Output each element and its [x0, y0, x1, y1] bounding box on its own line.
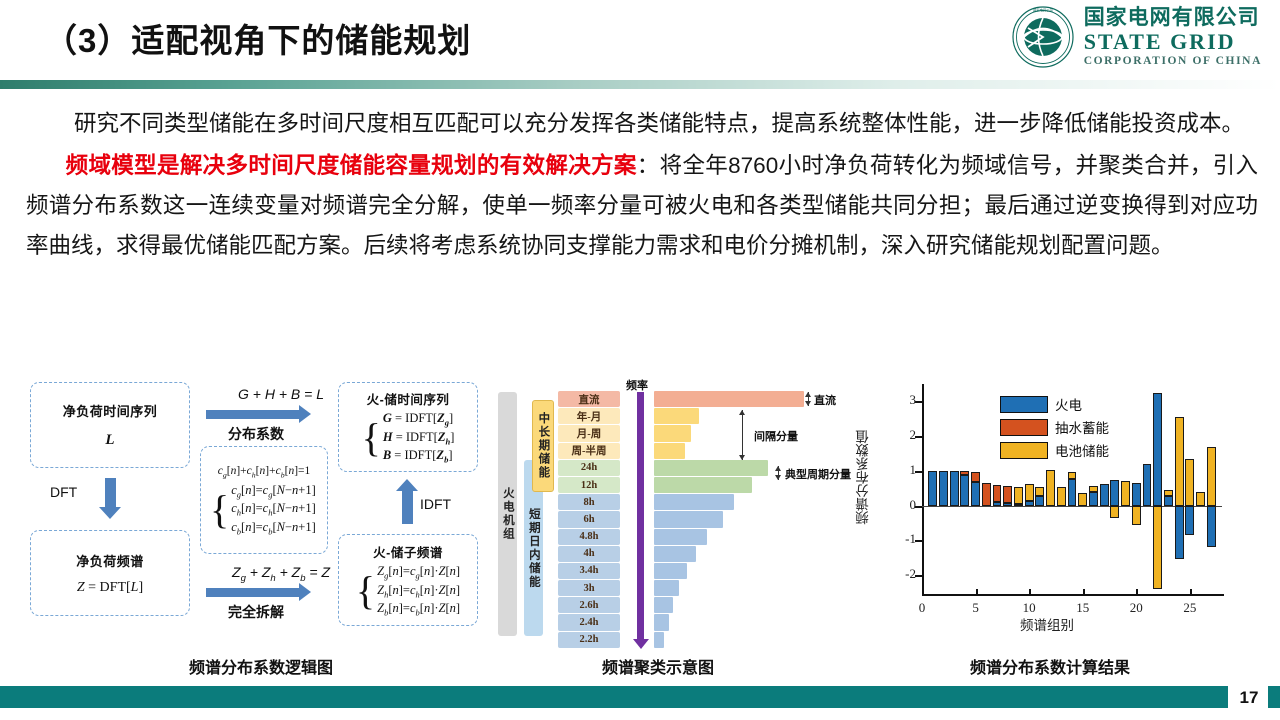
bar-segment — [971, 472, 980, 482]
legend-swatch-battery — [1000, 442, 1048, 459]
bar-segment — [1025, 484, 1034, 501]
y-tick-label: -2 — [896, 566, 916, 582]
spectrum-bar — [654, 425, 691, 441]
bar-segment — [1025, 501, 1034, 505]
band-label: 4.8h — [558, 529, 620, 545]
state-grid-logo: 国家电网公司 国家电网有限公司 STATE GRID CORPORATION O… — [1012, 6, 1262, 68]
bar-segment — [928, 471, 937, 506]
bar-segment — [1185, 506, 1194, 536]
spectrum-bar — [654, 460, 768, 476]
y-axis — [922, 384, 924, 596]
box-thermal-storage-time-series-title: 火-储时间序列 — [367, 389, 450, 408]
arrow-top — [206, 410, 300, 419]
y-tick-label: 0 — [896, 497, 916, 513]
box-net-load-time-series-title: 净负荷时间序列 — [63, 401, 158, 420]
state-grid-logo-text: 国家电网有限公司 STATE GRID CORPORATION OF CHINA — [1084, 7, 1262, 68]
bar-segment — [1207, 506, 1216, 548]
arrow-top-label: 分布系数 — [228, 424, 284, 444]
x-tick — [922, 589, 924, 596]
label-dft: DFT — [50, 484, 77, 500]
band-label: 6h — [558, 511, 620, 527]
box-net-load-time-series-formula: L — [105, 432, 114, 449]
paragraph-1-text: 研究不同类型储能在多时间尺度相互匹配可以充分发挥各类储能特点，提高系统整体性能，… — [26, 104, 1258, 144]
band-label: 3h — [558, 580, 620, 596]
bar-segment — [1110, 480, 1119, 506]
bar-segment — [1089, 492, 1098, 505]
bar-segment — [1175, 506, 1184, 560]
bar-segment — [1132, 506, 1141, 525]
y-tick — [915, 506, 922, 508]
bar-segment — [1164, 496, 1173, 506]
figures-row: 净负荷时间序列 L DFT 净负荷频谱 Z = DFT[L] G + H + B… — [0, 378, 1280, 668]
bar-chart-plot-area: -2-10123 0510152025 火电 抽水蓄能 电池储能 — [922, 384, 1222, 596]
spectrum-bar — [654, 511, 723, 527]
header-divider — [0, 80, 1280, 89]
bar-segment — [1035, 487, 1044, 496]
label-idft: IDFT — [420, 496, 451, 512]
paragraph-1: 研究不同类型储能在多时间尺度相互匹配可以充分发挥各类储能特点，提高系统整体性能，… — [26, 104, 1258, 144]
band-label: 直流 — [558, 391, 620, 407]
box-distribution-coefficients: cg[n]+ch[n]+cb[n]=1 { cg[n]=cg[N−n+1] ch… — [200, 446, 328, 554]
legend-item-pumped-hydro: 抽水蓄能 — [1000, 417, 1109, 437]
spectrum-bar — [654, 477, 752, 493]
spectrum-bar — [654, 580, 679, 596]
x-tick — [1029, 589, 1031, 596]
logo-english-subtitle: CORPORATION OF CHINA — [1084, 56, 1262, 68]
y-tick — [915, 540, 922, 542]
y-tick — [915, 436, 922, 438]
y-axis-label: 频谱分布系数值 — [854, 430, 874, 525]
spectrum-bar — [654, 529, 707, 545]
column-long-term-label: 中长期储能 — [537, 412, 550, 480]
x-axis — [922, 594, 1224, 596]
frequency-axis-label: 频率 — [626, 377, 648, 393]
band-label: 8h — [558, 494, 620, 510]
bar-segment — [1057, 487, 1066, 506]
x-tick — [1083, 589, 1085, 596]
legend-swatch-pumped-hydro — [1000, 419, 1048, 436]
box-thermal-storage-time-series: 火-储时间序列 { G = IDFT[Zg] H = IDFT[Zh] B = … — [338, 382, 478, 472]
y-tick-label: -1 — [896, 531, 916, 547]
bar-segment — [1014, 504, 1023, 506]
figure-spectrum-coefficient-logic: 净负荷时间序列 L DFT 净负荷频谱 Z = DFT[L] G + H + B… — [24, 378, 484, 656]
spectrum-bar — [654, 563, 687, 579]
logo-english-name: STATE GRID — [1084, 31, 1262, 53]
svg-text:国家电网公司: 国家电网公司 — [1033, 7, 1053, 12]
spectrum-bar — [654, 408, 699, 424]
coefficient-sum-equation: cg[n]+ch[n]+cb[n]=1 — [218, 465, 311, 479]
figure-1-caption: 频谱分布系数逻辑图 — [189, 654, 333, 678]
legend-item-battery: 电池储能 — [1000, 440, 1109, 460]
y-tick — [915, 401, 922, 403]
bar-segment — [950, 471, 959, 506]
column-thermal-units: 火电机组 — [498, 392, 517, 636]
dc-dimension-icon — [808, 392, 809, 406]
cycle-dimension-icon — [778, 466, 779, 480]
x-tick-label: 0 — [910, 600, 934, 616]
x-tick — [1190, 589, 1192, 596]
box-thermal-storage-sub-spectrum: 火-储子频谱 { Zg[n]=cg[n]·Z[n] Zh[n]=ch[n]·Z[… — [338, 534, 478, 626]
chart-legend: 火电 抽水蓄能 电池储能 — [1000, 394, 1109, 463]
frequency-band-labels: 直流 年-月 月-周 周-半周 24h 12h 8h 6h 4.8h 4h 3.… — [558, 391, 620, 649]
bar-segment — [1175, 417, 1184, 506]
interval-dimension-icon — [742, 410, 743, 460]
box-net-load-spectrum: 净负荷频谱 Z = DFT[L] — [30, 530, 190, 616]
thermal-storage-time-equations: { G = IDFT[Zg] H = IDFT[Zh] B = IDFT[Zb] — [362, 411, 455, 465]
footer-bar — [0, 686, 1228, 708]
bar-segment — [1196, 492, 1205, 506]
legend-label-pumped-hydro: 抽水蓄能 — [1055, 417, 1109, 437]
bar-segment — [1121, 481, 1130, 505]
bar-segment — [1089, 486, 1098, 492]
band-label: 月-周 — [558, 425, 620, 441]
x-axis-label: 频谱组别 — [1020, 614, 1074, 634]
figure-3-caption: 频谱分布系数计算结果 — [970, 654, 1130, 678]
coefficient-symmetry-equations: { cg[n]=cg[N−n+1] ch[n]=ch[N−n+1] cb[n]=… — [210, 483, 316, 537]
paragraph-2-highlight: 频域模型是解决多时间尺度储能容量规划的有效解决方案 — [66, 153, 637, 178]
legend-swatch-thermal — [1000, 396, 1048, 413]
arrow-dft — [105, 478, 116, 508]
band-label: 2.4h — [558, 614, 620, 630]
bar-segment — [993, 485, 1002, 502]
x-tick-label: 25 — [1178, 600, 1202, 616]
frequency-axis-arrow-icon — [637, 392, 644, 640]
spectrum-bar — [654, 546, 696, 562]
y-tick-label: 1 — [896, 462, 916, 478]
body-text: 研究不同类型储能在多时间尺度相互匹配可以充分发挥各类储能特点，提高系统整体性能，… — [26, 104, 1258, 268]
box-net-load-time-series: 净负荷时间序列 L — [30, 382, 190, 468]
spectrum-bar — [654, 494, 734, 510]
spectrum-bar — [654, 443, 685, 459]
bar-segment — [1014, 487, 1023, 503]
column-short-term-storage-label: 短期日内储能 — [527, 508, 540, 589]
spectrum-bar — [654, 597, 673, 613]
bar-segment — [1110, 506, 1119, 518]
figure-2-caption: 频谱聚类示意图 — [602, 654, 714, 678]
box-thermal-storage-sub-spectrum-title: 火-储子频谱 — [373, 542, 443, 561]
y-tick-label: 3 — [896, 392, 916, 408]
spectrum-bar — [654, 614, 669, 630]
bar-segment — [1068, 479, 1077, 506]
bar-segment — [1153, 393, 1162, 506]
paragraph-2: 频域模型是解决多时间尺度储能容量规划的有效解决方案：将全年8760小时净负荷转化… — [26, 146, 1258, 266]
bar-segment — [1035, 496, 1044, 506]
arrow-top-formula: G + H + B = L — [238, 386, 324, 402]
spectrum-bar — [654, 632, 664, 648]
page-number: 17 — [1232, 688, 1266, 708]
bar-segment — [971, 482, 980, 506]
box-net-load-spectrum-title: 净负荷频谱 — [76, 551, 144, 570]
bar-segment — [939, 471, 948, 506]
bar-segment — [1003, 503, 1012, 506]
x-tick — [1136, 589, 1138, 596]
bar-segment — [1100, 484, 1109, 506]
bar-segment — [1068, 472, 1077, 479]
x-tick-label: 15 — [1071, 600, 1095, 616]
y-tick-label: 2 — [896, 427, 916, 443]
bar-segment — [1143, 464, 1152, 506]
sub-spectrum-equations: { Zg[n]=cg[n]·Z[n] Zh[n]=ch[n]·Z[n] Zb[n… — [356, 564, 460, 618]
figure-spectrum-clustering: 火电机组 短期日内储能 中长期储能 直流 年-月 月-周 周-半周 24h 12… — [492, 378, 864, 656]
band-label: 12h — [558, 477, 620, 493]
band-label: 4h — [558, 546, 620, 562]
legend-label-thermal: 火电 — [1055, 394, 1082, 414]
box-net-load-spectrum-formula: Z = DFT[L] — [77, 580, 143, 596]
band-label: 周-半周 — [558, 443, 620, 459]
brace-left-icon: { — [210, 494, 229, 525]
bar-segment — [1185, 459, 1194, 506]
legend-label-battery: 电池储能 — [1055, 440, 1109, 460]
bar-segment — [1046, 470, 1055, 505]
bar-segment — [1132, 483, 1141, 506]
bar-segment — [1153, 506, 1162, 589]
annotation-typical-cycle-component: 典型周期分量 — [785, 466, 851, 482]
x-tick-label: 5 — [964, 600, 988, 616]
arrow-bottom-formula: Zg + Zh + Zb = Z — [232, 564, 330, 584]
footer-bar-tail — [1268, 686, 1280, 708]
column-thermal-units-label: 火电机组 — [501, 487, 514, 541]
bar-segment — [1207, 447, 1216, 506]
state-grid-seal-icon: 国家电网公司 — [1012, 6, 1074, 68]
x-tick — [976, 589, 978, 596]
bar-segment — [993, 502, 1002, 505]
slide: （3）适配视角下的储能规划 国家电网公司 国家电网有限公司 — [0, 0, 1280, 720]
bar-segment — [1164, 490, 1173, 496]
arrow-idft — [402, 490, 413, 524]
spectrum-bar — [654, 391, 804, 407]
bar-segment — [960, 471, 969, 475]
arrow-bottom — [206, 588, 300, 597]
column-long-term: 中长期储能 — [532, 400, 554, 492]
y-tick — [915, 575, 922, 577]
page-title: （3）适配视角下的储能规划 — [44, 14, 471, 62]
band-label: 2.6h — [558, 597, 620, 613]
legend-item-thermal: 火电 — [1000, 394, 1109, 414]
band-label: 24h — [558, 460, 620, 476]
bar-segment — [982, 483, 991, 506]
brace-left-icon: { — [356, 575, 375, 606]
bar-segment — [960, 475, 969, 506]
arrow-bottom-label: 完全拆解 — [228, 602, 284, 622]
band-label: 3.4h — [558, 563, 620, 579]
annotation-dc: 直流 — [814, 392, 836, 408]
band-label: 2.2h — [558, 632, 620, 648]
bar-segment — [1003, 486, 1012, 503]
x-tick-label: 20 — [1124, 600, 1148, 616]
y-tick — [915, 471, 922, 473]
brace-left-icon: { — [362, 422, 381, 453]
band-label: 年-月 — [558, 408, 620, 424]
annotation-interval-component: 间隔分量 — [754, 428, 798, 444]
slide-header: （3）适配视角下的储能规划 国家电网公司 国家电网有限公司 — [0, 0, 1280, 88]
logo-chinese-name: 国家电网有限公司 — [1084, 7, 1262, 28]
figure-spectrum-coefficient-results: -2-10123 0510152025 火电 抽水蓄能 电池储能 — [870, 378, 1260, 656]
bar-segment — [1078, 493, 1087, 505]
